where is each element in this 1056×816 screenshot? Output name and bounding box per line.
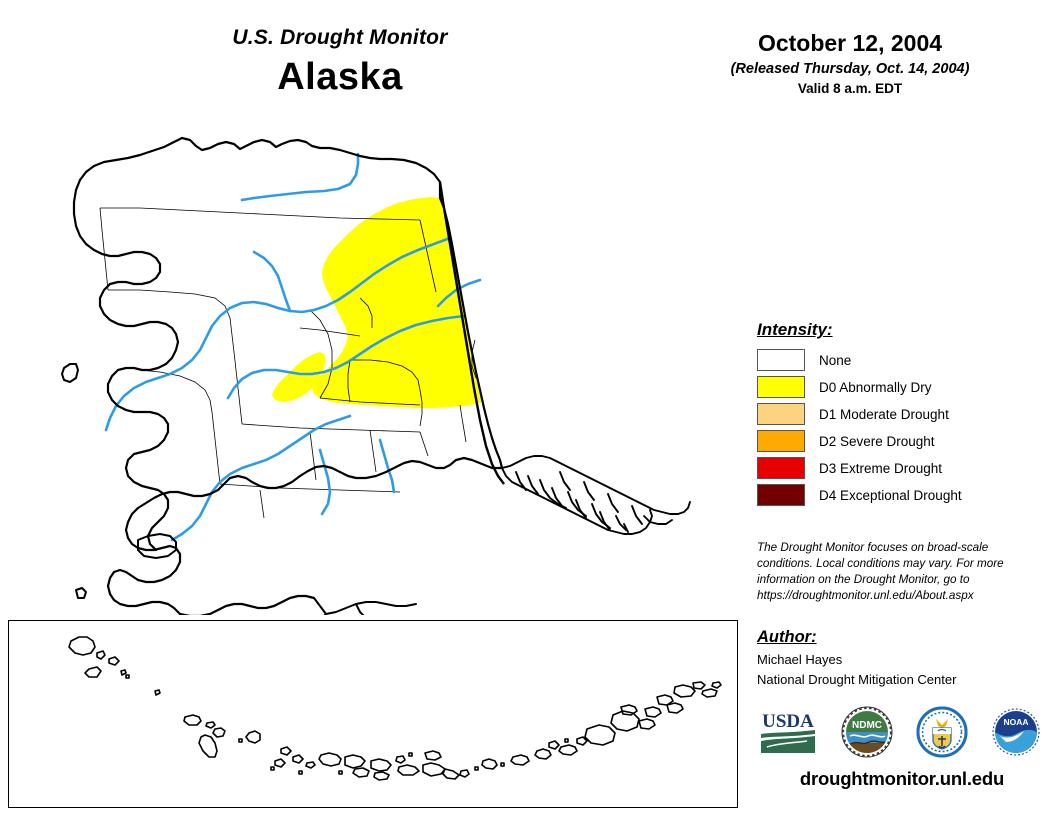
map-date: October 12, 2004	[700, 30, 1000, 57]
website-url[interactable]: droughtmonitor.unl.edu	[757, 768, 1047, 790]
usda-seal-logo[interactable]	[916, 706, 968, 763]
author-name: Michael Hayes	[757, 652, 1037, 667]
title-block: U.S. Drought Monitor Alaska	[130, 26, 550, 99]
legend-label-none: None	[819, 353, 851, 368]
legend-item-d0[interactable]: D0 Abnormally Dry	[757, 376, 1047, 398]
ndmc-logo[interactable]: NDMC	[841, 706, 893, 763]
date-block: October 12, 2004 (Released Thursday, Oct…	[700, 30, 1000, 96]
author-organization: National Drought Mitigation Center	[757, 672, 1037, 687]
intensity-legend: Intensity: None D0 Abnormally Dry D1 Mod…	[757, 320, 1047, 511]
offshore-islands	[62, 364, 346, 615]
state-title: Alaska	[130, 56, 550, 99]
alaska-main-map[interactable]	[20, 120, 740, 615]
ndmc-logo-text: NDMC	[852, 720, 882, 731]
usda-logo[interactable]: USDA	[757, 707, 819, 762]
noaa-logo[interactable]: NOAA	[990, 706, 1042, 763]
logo-row: USDA NDMC	[757, 706, 1042, 762]
legend-item-d3[interactable]: D3 Extreme Drought	[757, 457, 1047, 479]
legend-label-d3: D3 Extreme Drought	[819, 461, 942, 476]
author-block: Author: Michael Hayes National Drought M…	[757, 628, 1037, 687]
legend-label-d4: D4 Exceptional Drought	[819, 488, 962, 503]
page-title: U.S. Drought Monitor	[130, 26, 550, 50]
southeast-panhandle	[502, 456, 690, 534]
legend-label-d2: D2 Severe Drought	[819, 434, 935, 449]
disclaimer-text: The Drought Monitor focuses on broad-sca…	[757, 540, 1032, 605]
aleutian-island-outlines	[69, 637, 721, 780]
legend-item-d1[interactable]: D1 Moderate Drought	[757, 403, 1047, 425]
release-date: (Released Thursday, Oct. 14, 2004)	[700, 61, 1000, 77]
legend-item-none[interactable]: None	[757, 349, 1047, 371]
legend-label-d0: D0 Abnormally Dry	[819, 380, 932, 395]
legend-swatch-none	[757, 349, 805, 371]
usda-logo-text: USDA	[762, 711, 814, 732]
drought-area-d0	[272, 197, 482, 408]
legend-swatch-d4	[757, 484, 805, 506]
legend-swatch-d0	[757, 376, 805, 398]
legend-swatch-d3	[757, 457, 805, 479]
legend-swatch-d1	[757, 403, 805, 425]
author-heading: Author:	[757, 628, 1037, 647]
legend-item-d2[interactable]: D2 Severe Drought	[757, 430, 1047, 452]
legend-swatch-d2	[757, 430, 805, 452]
valid-time: Valid 8 a.m. EDT	[700, 81, 1000, 96]
legend-item-d4[interactable]: D4 Exceptional Drought	[757, 484, 1047, 506]
legend-label-d1: D1 Moderate Drought	[819, 407, 949, 422]
aleutian-islands-inset[interactable]	[8, 620, 738, 808]
noaa-logo-text: NOAA	[1003, 717, 1028, 727]
legend-title: Intensity:	[757, 320, 1047, 340]
